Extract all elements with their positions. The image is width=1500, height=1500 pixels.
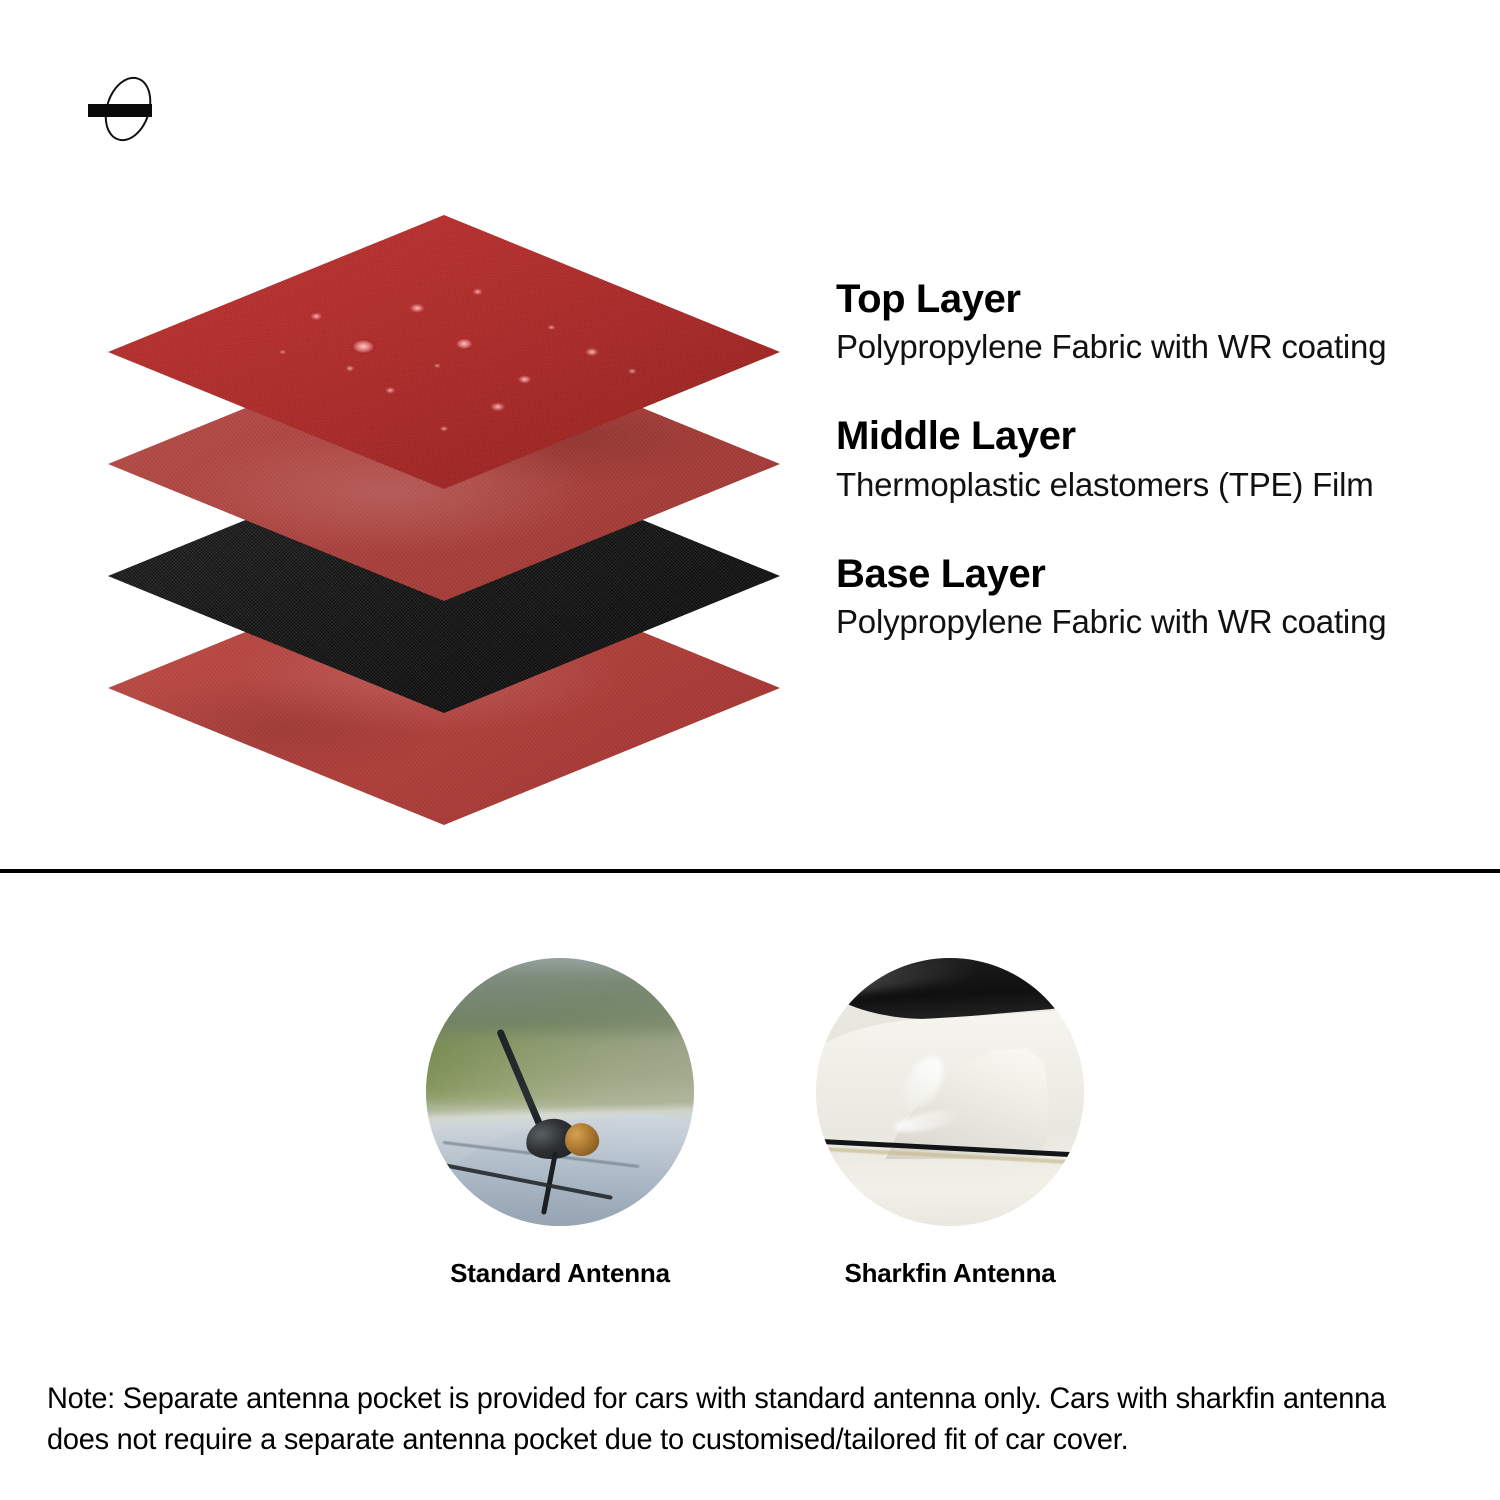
layer-spec-title: Top Layer [836, 276, 1456, 322]
background-field [426, 1033, 694, 1108]
antenna-comparison-section: Standard Antenna Sharkfin Antenna [0, 958, 1500, 1258]
antenna-caption: Standard Antenna [426, 1258, 694, 1289]
standard-antenna-photo [426, 958, 694, 1226]
page-root: Top Layer Polypropylene Fabric with WR c… [0, 0, 1500, 1500]
layer-specifications-list: Top Layer Polypropylene Fabric with WR c… [836, 276, 1456, 644]
sharkfin-antenna-photo [816, 958, 1084, 1226]
layer-spec-subtitle: Polypropylene Fabric with WR coating [836, 326, 1456, 369]
brand-logo-icon[interactable] [80, 76, 166, 142]
footer-note: Note: Separate antenna pocket is provide… [47, 1378, 1410, 1461]
antenna-option-sharkfin: Sharkfin Antenna [816, 958, 1084, 1226]
layer-spec-base: Base Layer Polypropylene Fabric with WR … [836, 551, 1456, 644]
layer-spec-middle: Middle Layer Thermoplastic elastomers (T… [836, 413, 1456, 506]
layer-spec-top: Top Layer Polypropylene Fabric with WR c… [836, 276, 1456, 369]
antenna-caption: Sharkfin Antenna [816, 1258, 1084, 1289]
layer-spec-subtitle: Polypropylene Fabric with WR coating [836, 601, 1456, 644]
section-divider [0, 869, 1500, 873]
antenna-option-standard: Standard Antenna [426, 958, 694, 1226]
layer-spec-title: Middle Layer [836, 413, 1456, 459]
fabric-layers-diagram [108, 215, 788, 743]
logo-bar-icon [88, 104, 152, 117]
layer-spec-subtitle: Thermoplastic elastomers (TPE) Film [836, 464, 1456, 507]
layer-spec-title: Base Layer [836, 551, 1456, 597]
